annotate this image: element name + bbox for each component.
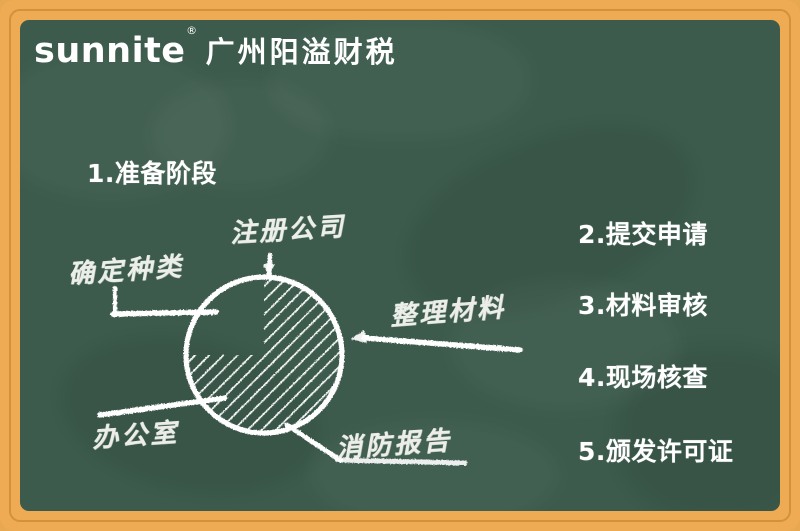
chalkboard-surface: sunnite ® 广州阳溢财税 — [20, 20, 780, 511]
registered-trademark-icon: ® — [186, 25, 198, 36]
brand-header: sunnite ® 广州阳溢财税 — [34, 34, 398, 69]
step-1-preparation[interactable]: 1.准备阶段 — [87, 154, 217, 190]
leader-line-organize-materials — [351, 330, 520, 350]
pie-slice-office — [180, 270, 355, 445]
chalk-label-determine-category: 确定种类 — [67, 246, 185, 291]
chalk-label-organize-materials: 整理材料 — [389, 287, 508, 333]
pie-slice-organize-materials — [180, 270, 355, 445]
step-4-onsite-inspection[interactable]: 4.现场核查 — [578, 358, 708, 394]
step-2-submit-application[interactable]: 2.提交申请 — [578, 215, 708, 251]
brand-logo-wordmark: sunnite ® — [34, 34, 186, 69]
leader-line-determine-category — [113, 288, 216, 315]
leader-line-register-company — [263, 255, 275, 277]
step-3-material-review[interactable]: 3.材料审核 — [578, 286, 708, 322]
brand-name-chinese: 广州阳溢财税 — [206, 38, 398, 67]
chalk-label-fire-report: 消防报告 — [335, 420, 453, 465]
pie-slice-fire-report — [180, 270, 355, 445]
chalk-label-register-company: 注册公司 — [229, 206, 347, 250]
step-5-issue-license[interactable]: 5.颁发许可证 — [578, 432, 733, 468]
brand-logo-text: sunnite — [34, 31, 186, 71]
pie-chart-outline — [186, 277, 342, 433]
chalk-label-office: 办公室 — [91, 412, 180, 455]
blackboard-slide: sunnite ® 广州阳溢财税 — [0, 0, 800, 531]
